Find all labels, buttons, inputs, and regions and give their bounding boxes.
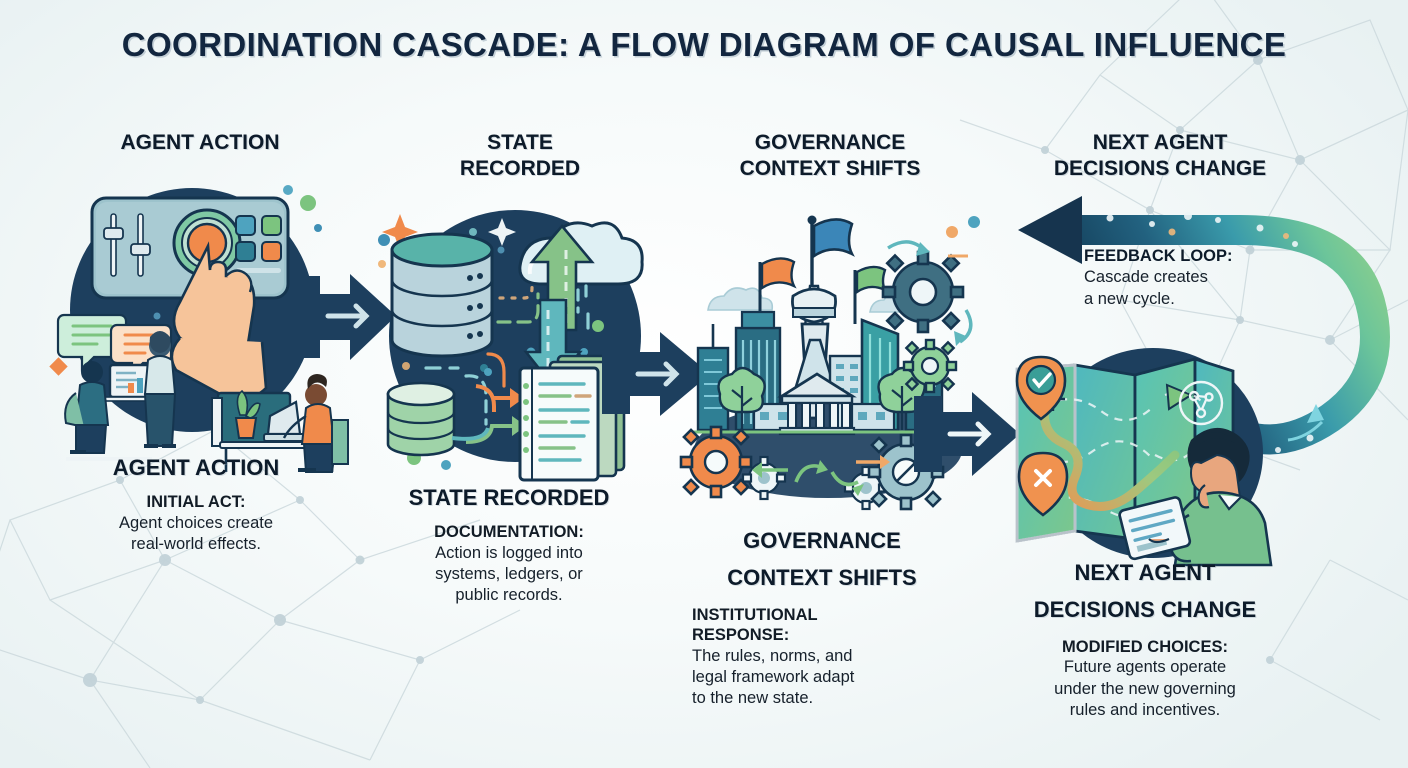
- database-secondary: [388, 383, 454, 455]
- infographic-canvas: COORDINATION CASCADE: A FLOW DIAGRAM OF …: [0, 0, 1408, 768]
- caption-lead: MODIFIED CHOICES:: [1000, 637, 1290, 658]
- illustration-next-agent-decisions-change: [1005, 335, 1295, 565]
- caption-next-agent-decisions-change: NEXT AGENT DECISIONS CHANGE MODIFIED CHO…: [1000, 560, 1290, 721]
- column-header-next-agent-decisions-change: NEXT AGENT DECISIONS CHANGE: [1000, 130, 1320, 182]
- caption-body-line: real-world effects.: [46, 534, 346, 555]
- caption-lead: DOCUMENTATION:: [374, 522, 644, 543]
- column-header-line: GOVERNANCE: [680, 130, 980, 156]
- feedback-loop-body-line: a new cycle.: [1084, 289, 1299, 310]
- gear-large-navy: [883, 252, 963, 332]
- caption-body-line: rules and incentives.: [1000, 700, 1290, 721]
- column-header-line: AGENT ACTION: [40, 130, 360, 156]
- caption-body-line: Agent choices create: [46, 513, 346, 534]
- caption-heading: STATE RECORDED: [374, 485, 644, 511]
- caption-lead: INITIAL ACT:: [46, 492, 346, 513]
- column-header-agent-action: AGENT ACTION: [40, 130, 360, 156]
- feedback-loop-body-line: Cascade creates: [1084, 267, 1299, 288]
- caption-body-line: systems, ledgers, or: [374, 564, 644, 585]
- column-header-state-recorded: STATE RECORDED: [380, 130, 660, 182]
- caption-heading: DECISIONS CHANGE: [1000, 597, 1290, 623]
- caption-body-line: under the new governing: [1000, 679, 1290, 700]
- caption-body-line: The rules, norms, and: [692, 646, 952, 667]
- flag-green: [855, 267, 885, 324]
- caption-body-line: Future agents operate: [1000, 657, 1290, 678]
- page-title: COORDINATION CASCADE: A FLOW DIAGRAM OF …: [0, 26, 1408, 64]
- caption-governance-context-shifts: GOVERNANCE CONTEXT SHIFTS INSTITUTIONAL …: [692, 528, 952, 709]
- caption-body-line: public records.: [374, 585, 644, 606]
- caption-agent-action: AGENT ACTION INITIAL ACT: Agent choices …: [46, 455, 346, 555]
- caption-heading: CONTEXT SHIFTS: [692, 565, 952, 591]
- caption-body-line: legal framework adapt: [692, 667, 952, 688]
- gear-orange: [681, 427, 751, 497]
- column-header-line: CONTEXT SHIFTS: [680, 156, 980, 182]
- column-header-line: RECORDED: [380, 156, 660, 182]
- feedback-loop-lead: FEEDBACK LOOP:: [1084, 246, 1299, 267]
- caption-heading: GOVERNANCE: [692, 528, 952, 554]
- column-header-line: DECISIONS CHANGE: [1000, 156, 1320, 182]
- caption-lead: RESPONSE:: [692, 625, 952, 646]
- column-header-governance-context-shifts: GOVERNANCE CONTEXT SHIFTS: [680, 130, 980, 182]
- feedback-loop-label: FEEDBACK LOOP: Cascade creates a new cyc…: [1084, 246, 1299, 310]
- column-header-line: NEXT AGENT: [1000, 130, 1320, 156]
- caption-body-line: Action is logged into: [374, 543, 644, 564]
- column-header-line: STATE: [380, 130, 660, 156]
- database-primary: [392, 234, 492, 356]
- gear-small-green: [904, 340, 956, 392]
- caption-heading: NEXT AGENT: [1000, 560, 1290, 586]
- caption-heading: AGENT ACTION: [46, 455, 346, 481]
- caption-lead: INSTITUTIONAL: [692, 605, 952, 626]
- caption-body-line: to the new state.: [692, 688, 952, 709]
- caption-state-recorded: STATE RECORDED DOCUMENTATION: Action is …: [374, 485, 644, 606]
